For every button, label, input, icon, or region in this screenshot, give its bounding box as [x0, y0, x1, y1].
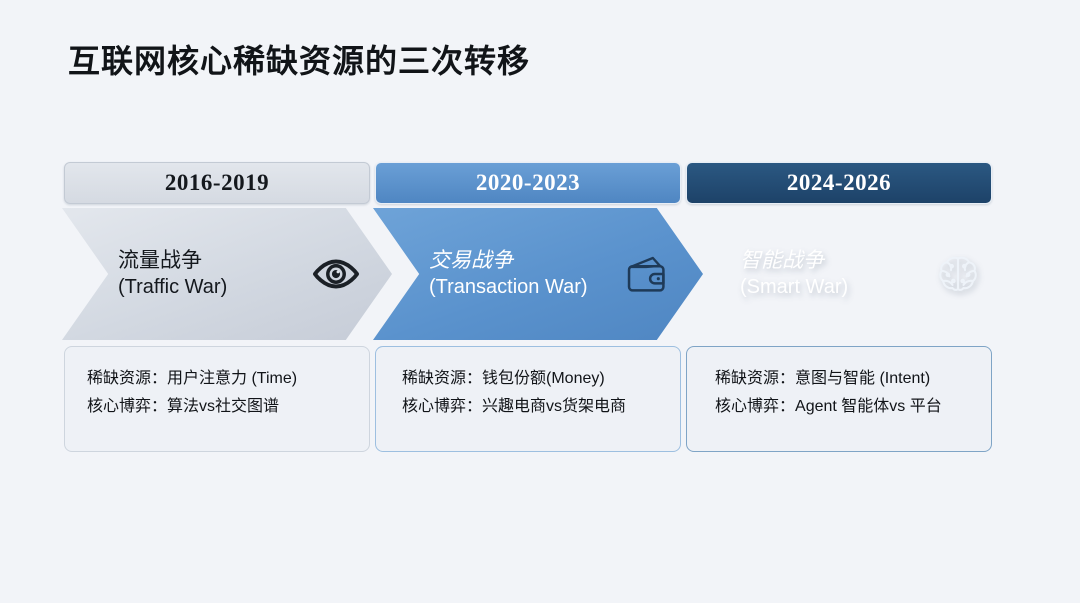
- stage-period-header-2: 2020-2023: [375, 162, 681, 204]
- eye-icon: [310, 248, 362, 300]
- stage-title-en-1: (Traffic War): [118, 275, 227, 301]
- stage-resource-value-2: 钱包份额(Money): [482, 370, 605, 387]
- stage-period-header-3: 2024-2026: [686, 162, 992, 204]
- stage-title-cn-2: 交易战争: [429, 248, 588, 275]
- stage-chevron-3[interactable]: 智能战争 (Smart War): [684, 208, 1014, 340]
- timeline-stage-1[interactable]: 2016-2019 流量战争 (Traffic War): [62, 162, 372, 452]
- stage-battle-value-3: Agent 智能体vs 平台: [795, 398, 942, 415]
- stage-battle-line-2: 核心博弈：兴趣电商vs货架电商: [376, 393, 680, 421]
- stage-detail-card-3: 稀缺资源：意图与智能 (Intent) 核心博弈：Agent 智能体vs 平台: [686, 346, 992, 452]
- stage-resource-key-3: 稀缺资源：: [715, 370, 795, 387]
- timeline-diagram: 2016-2019 流量战争 (Traffic War): [62, 162, 1002, 452]
- stage-detail-card-2: 稀缺资源：钱包份额(Money) 核心博弈：兴趣电商vs货架电商: [375, 346, 681, 452]
- stage-battle-line-1: 核心博弈：算法vs社交图谱: [65, 393, 369, 421]
- stage-resource-line-2: 稀缺资源：钱包份额(Money): [376, 365, 680, 393]
- stage-title-cn-1: 流量战争: [118, 248, 227, 275]
- stage-period-header-1: 2016-2019: [64, 162, 370, 204]
- stage-battle-key-3: 核心博弈：: [715, 398, 795, 415]
- stage-resource-key-1: 稀缺资源：: [87, 370, 167, 387]
- stage-battle-value-1: 算法vs社交图谱: [167, 398, 279, 415]
- stage-battle-key-1: 核心博弈：: [87, 398, 167, 415]
- stage-title-block-3: 智能战争 (Smart War): [740, 248, 848, 300]
- stage-chevron-1[interactable]: 流量战争 (Traffic War): [62, 208, 392, 340]
- brain-icon: [932, 248, 984, 300]
- page-title: 互联网核心稀缺资源的三次转移: [68, 36, 530, 82]
- stage-title-en-3: (Smart War): [740, 275, 848, 301]
- stage-resource-value-3: 意图与智能 (Intent): [795, 370, 930, 387]
- stage-resource-key-2: 稀缺资源：: [402, 370, 482, 387]
- stage-battle-value-2: 兴趣电商vs货架电商: [482, 398, 626, 415]
- stage-chevron-2[interactable]: 交易战争 (Transaction War): [373, 208, 703, 340]
- stage-period-label-3: 2024-2026: [787, 170, 891, 196]
- wallet-icon: [621, 248, 673, 300]
- stage-title-cn-3: 智能战争: [740, 248, 848, 275]
- timeline-stage-3[interactable]: 2024-2026 智能战争 (Smart War): [684, 162, 994, 452]
- stage-battle-key-2: 核心博弈：: [402, 398, 482, 415]
- stage-title-block-2: 交易战争 (Transaction War): [429, 248, 588, 300]
- stage-detail-card-1: 稀缺资源：用户注意力 (Time) 核心博弈：算法vs社交图谱: [64, 346, 370, 452]
- stage-title-block-1: 流量战争 (Traffic War): [118, 248, 227, 300]
- stage-battle-line-3: 核心博弈：Agent 智能体vs 平台: [687, 393, 991, 421]
- stage-resource-value-1: 用户注意力 (Time): [167, 370, 297, 387]
- stage-resource-line-3: 稀缺资源：意图与智能 (Intent): [687, 365, 991, 393]
- timeline-stage-2[interactable]: 2020-2023 交易战争 (Transaction War): [373, 162, 683, 452]
- stage-period-label-1: 2016-2019: [165, 170, 269, 196]
- stage-resource-line-1: 稀缺资源：用户注意力 (Time): [65, 365, 369, 393]
- stage-period-label-2: 2020-2023: [476, 170, 580, 196]
- stage-title-en-2: (Transaction War): [429, 275, 588, 301]
